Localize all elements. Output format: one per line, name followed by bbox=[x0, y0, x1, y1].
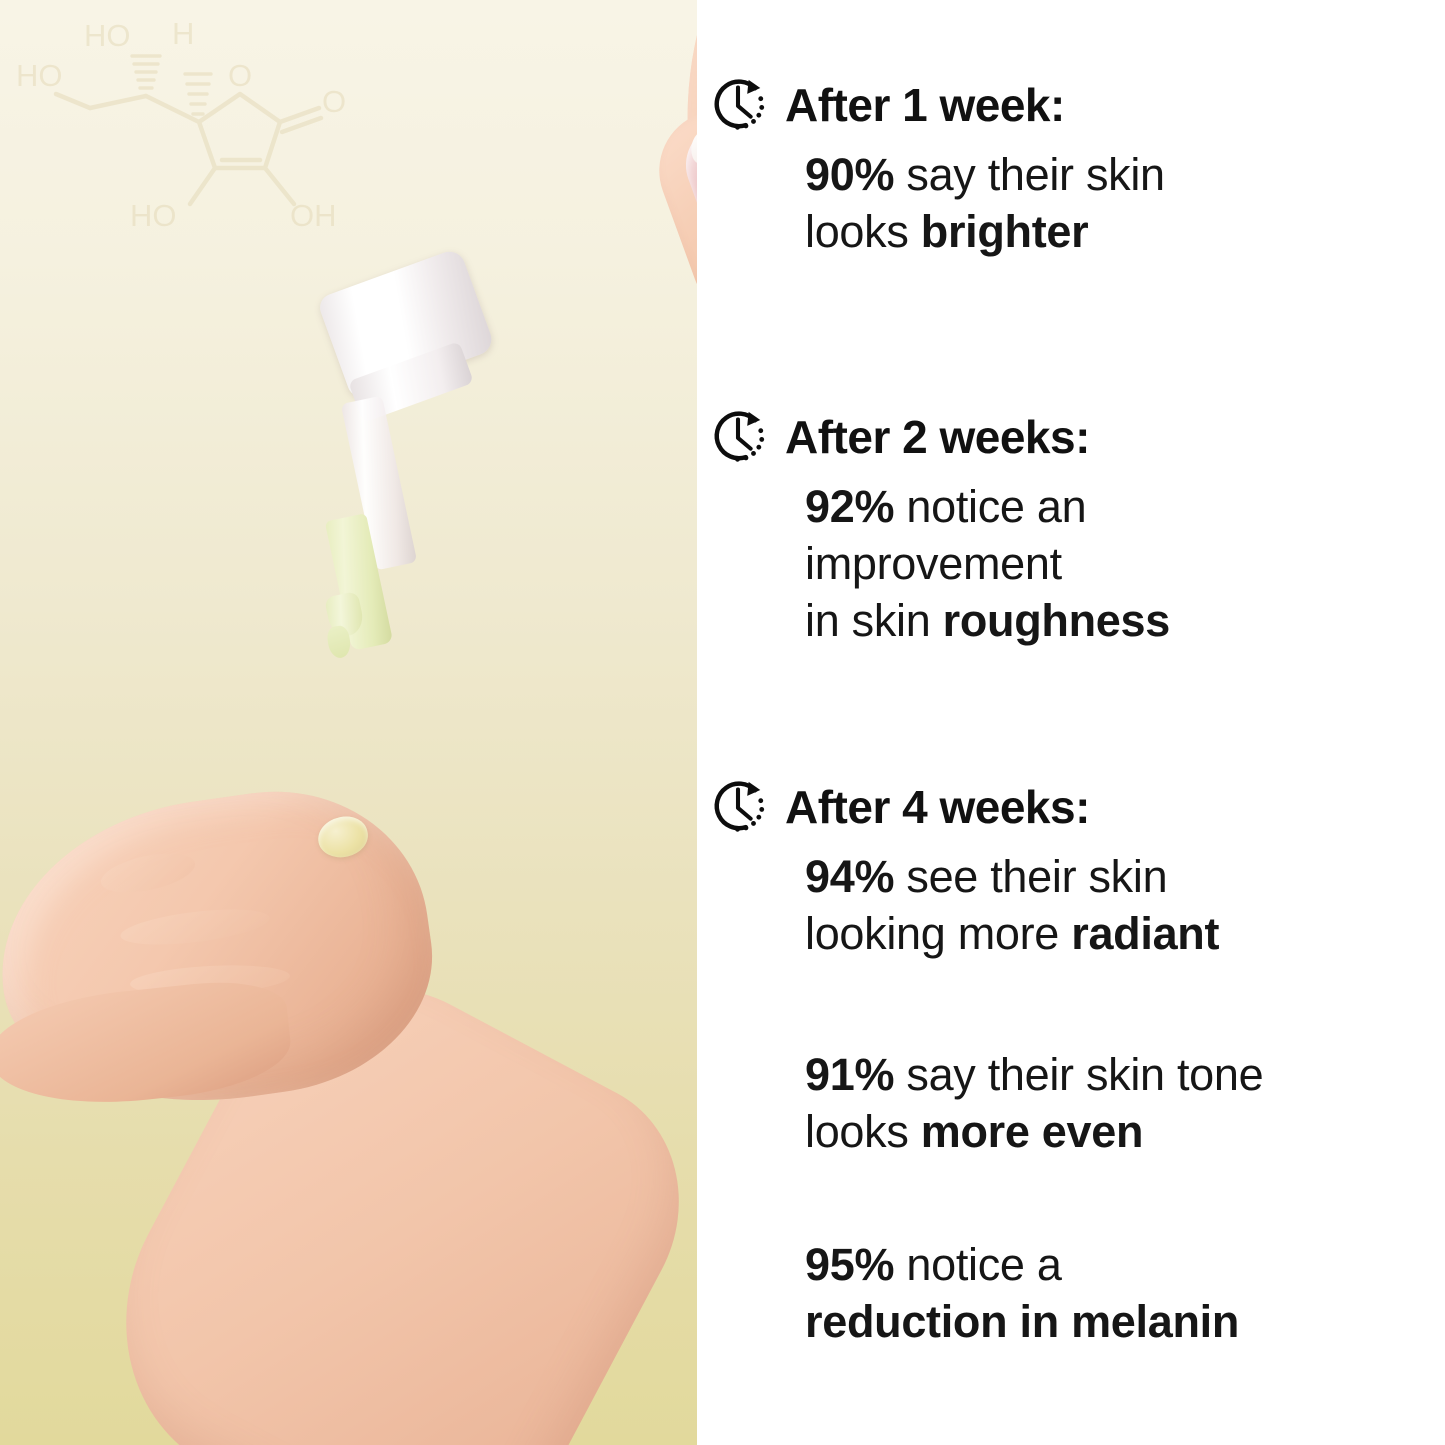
molecule-atom-ho-top: HO bbox=[84, 18, 131, 53]
stat-line2-pre: looking more bbox=[805, 908, 1071, 959]
stat-percent: 90% bbox=[805, 149, 894, 200]
molecule-atom-h: H bbox=[172, 16, 194, 51]
stat-heading: After 4 weeks: bbox=[785, 780, 1090, 834]
stat-line3-emphasis: roughness bbox=[943, 595, 1170, 646]
stat-line3-pre: in skin bbox=[805, 595, 943, 646]
stat-line1-rest: say their skin bbox=[894, 149, 1165, 200]
stat-line2-emphasis: radiant bbox=[1071, 908, 1219, 959]
stat-block-skin-tone: 91% say their skin tone looks more even bbox=[697, 1046, 1445, 1160]
molecule-atom-ho-left: HO bbox=[16, 58, 63, 93]
stat-line2-pre: looks bbox=[805, 206, 921, 257]
stat-heading-row: After 1 week: bbox=[697, 74, 1445, 136]
stat-line1-rest: see their skin bbox=[894, 851, 1167, 902]
stat-percent: 91% bbox=[805, 1049, 894, 1100]
stat-line2-pre: improvement bbox=[805, 538, 1062, 589]
stat-line2-emphasis: brighter bbox=[921, 206, 1089, 257]
stat-percent: 95% bbox=[805, 1239, 894, 1290]
product-photo-panel: HO HO H O O HO OH bbox=[0, 0, 697, 1445]
stat-block-week-2: After 2 weeks: 92% notice an improvement… bbox=[697, 406, 1445, 649]
stat-line2-emphasis: reduction in melanin bbox=[805, 1296, 1239, 1347]
stat-heading-row: After 2 weeks: bbox=[697, 406, 1445, 468]
stat-line2-pre: looks bbox=[805, 1106, 921, 1157]
clock-arrow-icon bbox=[707, 776, 769, 838]
promo-graphic: HO HO H O O HO OH bbox=[0, 0, 1445, 1445]
stat-line2-emphasis: more even bbox=[921, 1106, 1143, 1157]
clock-arrow-icon bbox=[707, 74, 769, 136]
stat-line1-rest: say their skin tone bbox=[894, 1049, 1263, 1100]
stat-body: 94% see their skin looking more radiant bbox=[697, 848, 1445, 962]
stat-percent: 92% bbox=[805, 481, 894, 532]
clock-arrow-icon bbox=[707, 406, 769, 468]
stat-heading: After 2 weeks: bbox=[785, 410, 1090, 464]
stat-block-melanin: 95% notice a reduction in melanin bbox=[697, 1236, 1445, 1350]
thumb bbox=[642, 94, 697, 329]
stat-percent: 94% bbox=[805, 851, 894, 902]
serum-dropper bbox=[322, 248, 522, 668]
stat-heading: After 1 week: bbox=[785, 78, 1065, 132]
stat-block-week-1: After 1 week: 90% say their skin looks b… bbox=[697, 74, 1445, 260]
molecule-atom-o-ring: O bbox=[228, 58, 252, 93]
stat-body: 92% notice an improvement in skin roughn… bbox=[697, 478, 1445, 649]
stat-line1-rest: notice an bbox=[894, 481, 1086, 532]
stat-heading-row: After 4 weeks: bbox=[697, 776, 1445, 838]
claims-text-panel: After 1 week: 90% say their skin looks b… bbox=[697, 0, 1445, 1445]
stat-body: 90% say their skin looks brighter bbox=[697, 146, 1445, 260]
stat-block-week-4: After 4 weeks: 94% see their skin lookin… bbox=[697, 776, 1445, 962]
stat-line1-rest: notice a bbox=[894, 1239, 1061, 1290]
molecule-atom-ho-bottom: HO bbox=[130, 198, 177, 233]
